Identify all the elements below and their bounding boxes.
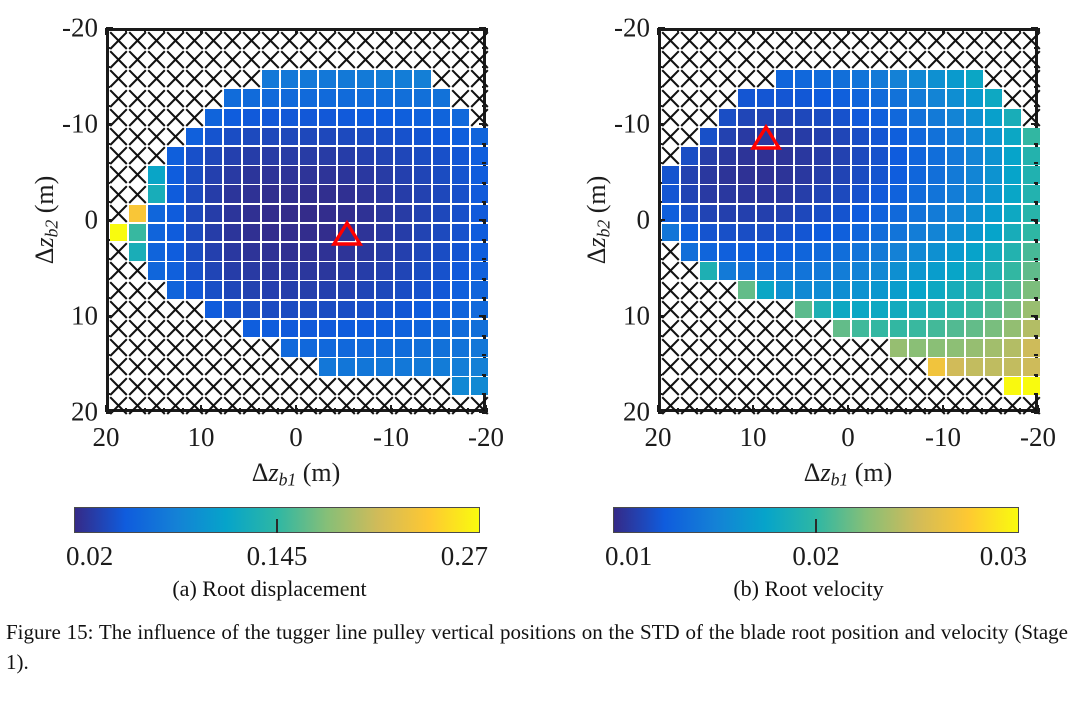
heatmap-cell xyxy=(205,243,223,261)
infeasible-marker xyxy=(946,50,965,69)
infeasible-marker xyxy=(661,319,680,338)
heatmap-cell xyxy=(966,89,984,107)
colorbar-tick xyxy=(815,519,817,533)
heatmap-cell xyxy=(262,243,280,261)
heatmap-cell xyxy=(433,128,451,146)
infeasible-marker xyxy=(109,261,128,280)
infeasible-marker xyxy=(109,69,128,88)
infeasible-marker xyxy=(413,396,432,415)
heatmap-cell xyxy=(414,281,432,299)
heatmap-cell xyxy=(1004,262,1022,280)
heatmap-cell xyxy=(1004,185,1022,203)
heatmap-cell xyxy=(947,320,965,338)
heatmap-cell xyxy=(852,224,870,242)
x-minor-tick xyxy=(372,28,374,32)
heatmap-cell xyxy=(947,224,965,242)
heatmap-cell xyxy=(338,224,356,242)
heatmap-cell xyxy=(224,109,242,127)
heatmap-cell xyxy=(281,185,299,203)
heatmap-cell xyxy=(719,224,737,242)
y-minor-tick xyxy=(1034,278,1038,280)
x-minor-tick xyxy=(734,28,736,32)
heatmap-cell xyxy=(205,185,223,203)
heatmap-cell xyxy=(167,166,185,184)
heatmap-cell xyxy=(281,70,299,88)
x-tick xyxy=(752,405,754,412)
y-minor-tick xyxy=(482,335,486,337)
infeasible-marker xyxy=(109,146,128,165)
colorbar-mid-label: 0.145 xyxy=(247,543,308,570)
y-tick xyxy=(1031,411,1038,413)
heatmap-cell xyxy=(110,224,128,242)
heatmap-cell xyxy=(966,166,984,184)
infeasible-marker xyxy=(147,50,166,69)
heatmap-cell xyxy=(357,109,375,127)
infeasible-marker xyxy=(242,396,261,415)
heatmap-cell xyxy=(281,109,299,127)
heatmap-cell xyxy=(947,205,965,223)
infeasible-marker xyxy=(680,396,699,415)
infeasible-marker xyxy=(965,31,984,50)
x-minor-tick xyxy=(429,408,431,412)
y-minor-tick xyxy=(106,182,110,184)
subcaption-b: (b) Root velocity xyxy=(539,578,1078,600)
infeasible-marker xyxy=(851,357,870,376)
heatmap-cell xyxy=(776,205,794,223)
x-minor-tick xyxy=(886,408,888,412)
infeasible-marker xyxy=(185,338,204,357)
infeasible-marker xyxy=(204,50,223,69)
y-tick xyxy=(106,219,113,221)
heatmap-cell xyxy=(433,147,451,165)
y-tick-label: 10 xyxy=(600,303,650,330)
heatmap-cell xyxy=(795,109,813,127)
heatmap-cell xyxy=(300,128,318,146)
heatmap-cell xyxy=(1004,147,1022,165)
heatmap-cell xyxy=(814,224,832,242)
y-minor-tick xyxy=(482,354,486,356)
infeasible-marker xyxy=(128,185,147,204)
infeasible-marker xyxy=(756,69,775,88)
x-minor-tick xyxy=(867,28,869,32)
heatmap-grid-b xyxy=(661,31,1035,409)
infeasible-marker xyxy=(737,69,756,88)
heatmap-cell xyxy=(243,243,261,261)
x-tick xyxy=(942,28,944,35)
heatmap-cell xyxy=(395,205,413,223)
heatmap-cell xyxy=(262,89,280,107)
heatmap-cell xyxy=(966,301,984,319)
x-tick-label: -20 xyxy=(1020,424,1056,451)
heatmap-cell xyxy=(224,89,242,107)
y-tick xyxy=(479,219,486,221)
heatmap-cell xyxy=(414,205,432,223)
heatmap-cell xyxy=(1004,166,1022,184)
infeasible-marker xyxy=(299,31,318,50)
heatmap-cell xyxy=(243,89,261,107)
infeasible-marker xyxy=(756,396,775,415)
heatmap-cell xyxy=(719,205,737,223)
infeasible-marker xyxy=(927,377,946,396)
heatmap-cell xyxy=(890,166,908,184)
infeasible-marker xyxy=(680,300,699,319)
heatmap-cell xyxy=(966,147,984,165)
infeasible-marker xyxy=(299,50,318,69)
infeasible-marker xyxy=(1022,89,1041,108)
infeasible-marker xyxy=(680,127,699,146)
x-minor-tick xyxy=(353,28,355,32)
heatmap-cell xyxy=(376,320,394,338)
heatmap-cell xyxy=(357,339,375,357)
x-tick xyxy=(295,405,297,412)
infeasible-marker xyxy=(984,31,1003,50)
heatmap-cell xyxy=(357,358,375,376)
heatmap-cell xyxy=(376,243,394,261)
heatmap-cell xyxy=(148,205,166,223)
infeasible-marker xyxy=(242,357,261,376)
heatmap-cell xyxy=(319,185,337,203)
heatmap-cell xyxy=(757,147,775,165)
y-minor-tick xyxy=(1034,393,1038,395)
infeasible-marker xyxy=(718,338,737,357)
infeasible-marker xyxy=(166,89,185,108)
infeasible-marker xyxy=(737,319,756,338)
infeasible-marker xyxy=(946,377,965,396)
heatmap-cell xyxy=(243,109,261,127)
x-axis-title: Δzb1 (m) xyxy=(252,460,341,489)
infeasible-marker xyxy=(794,31,813,50)
subcaption-a: (a) Root displacement xyxy=(0,578,539,600)
infeasible-marker xyxy=(718,69,737,88)
infeasible-marker xyxy=(147,396,166,415)
x-tick-label: 10 xyxy=(188,424,215,451)
infeasible-marker xyxy=(984,50,1003,69)
infeasible-marker xyxy=(813,31,832,50)
y-minor-tick xyxy=(1034,239,1038,241)
y-tick xyxy=(1031,123,1038,125)
y-minor-tick xyxy=(482,239,486,241)
infeasible-marker xyxy=(432,50,451,69)
x-minor-tick xyxy=(810,28,812,32)
x-tick xyxy=(485,28,487,35)
heatmap-cell xyxy=(928,224,946,242)
infeasible-marker xyxy=(394,377,413,396)
x-minor-tick xyxy=(715,28,717,32)
heatmap-cell xyxy=(395,281,413,299)
heatmap-cell xyxy=(395,301,413,319)
infeasible-marker xyxy=(1003,396,1022,415)
x-minor-tick xyxy=(182,408,184,412)
x-minor-tick xyxy=(448,408,450,412)
infeasible-marker xyxy=(927,50,946,69)
heatmap-cell xyxy=(852,243,870,261)
x-minor-tick xyxy=(791,28,793,32)
y-minor-tick xyxy=(482,393,486,395)
heatmap-cell xyxy=(243,147,261,165)
infeasible-marker xyxy=(166,108,185,127)
infeasible-marker xyxy=(699,50,718,69)
heatmap-cell xyxy=(719,185,737,203)
heatmap-cell xyxy=(357,147,375,165)
infeasible-marker xyxy=(775,319,794,338)
heatmap-cell xyxy=(319,320,337,338)
heatmap-cell xyxy=(719,243,737,261)
heatmap-cell xyxy=(205,301,223,319)
infeasible-marker xyxy=(756,31,775,50)
infeasible-marker xyxy=(375,50,394,69)
infeasible-marker xyxy=(166,319,185,338)
y-tick-label: 10 xyxy=(48,303,98,330)
x-minor-tick xyxy=(163,408,165,412)
infeasible-marker xyxy=(432,396,451,415)
heatmap-cell xyxy=(814,205,832,223)
infeasible-marker xyxy=(870,377,889,396)
y-minor-tick xyxy=(106,374,110,376)
x-tick-label: 20 xyxy=(93,424,120,451)
y-minor-tick xyxy=(1034,86,1038,88)
heatmap-cell xyxy=(738,262,756,280)
heatmap-cell xyxy=(452,281,470,299)
heatmap-cell xyxy=(376,70,394,88)
heatmap-cell xyxy=(452,301,470,319)
heatmap-cell xyxy=(319,358,337,376)
heatmap-cell xyxy=(452,358,470,376)
heatmap-cell xyxy=(795,224,813,242)
infeasible-marker xyxy=(128,396,147,415)
heatmap-cell xyxy=(966,262,984,280)
infeasible-marker xyxy=(680,281,699,300)
infeasible-marker xyxy=(470,89,489,108)
heatmap-cell xyxy=(928,109,946,127)
colorbar-b xyxy=(613,507,1019,533)
heatmap-cell xyxy=(852,147,870,165)
x-minor-tick xyxy=(905,408,907,412)
infeasible-marker xyxy=(109,319,128,338)
heatmap-cell xyxy=(947,89,965,107)
heatmap-cell xyxy=(947,166,965,184)
heatmap-cell xyxy=(319,224,337,242)
infeasible-marker xyxy=(261,50,280,69)
heatmap-cell xyxy=(243,166,261,184)
infeasible-marker xyxy=(242,338,261,357)
heatmap-cell xyxy=(300,281,318,299)
heatmap-cell xyxy=(395,262,413,280)
heatmap-cell xyxy=(243,262,261,280)
infeasible-marker xyxy=(813,338,832,357)
infeasible-marker xyxy=(280,50,299,69)
heatmap-cell xyxy=(319,301,337,319)
heatmap-cell xyxy=(281,89,299,107)
infeasible-marker xyxy=(109,50,128,69)
infeasible-marker xyxy=(337,396,356,415)
x-tick-label: -10 xyxy=(925,424,961,451)
heatmap-cell xyxy=(776,147,794,165)
infeasible-marker xyxy=(432,31,451,50)
heatmap-cell xyxy=(985,301,1003,319)
heatmap-cell xyxy=(433,224,451,242)
x-minor-tick xyxy=(125,408,127,412)
infeasible-marker xyxy=(223,69,242,88)
heatmap-cell xyxy=(224,301,242,319)
infeasible-marker xyxy=(984,377,1003,396)
infeasible-marker xyxy=(185,377,204,396)
infeasible-marker xyxy=(775,338,794,357)
y-minor-tick xyxy=(106,47,110,49)
infeasible-marker xyxy=(965,377,984,396)
heatmap-cell xyxy=(1004,339,1022,357)
y-tick-label: -10 xyxy=(600,111,650,138)
heatmap-cell xyxy=(833,224,851,242)
heatmap-cell xyxy=(909,70,927,88)
heatmap-cell xyxy=(300,147,318,165)
infeasible-marker xyxy=(1003,50,1022,69)
infeasible-marker xyxy=(680,69,699,88)
heatmap-cell xyxy=(871,89,889,107)
infeasible-marker xyxy=(965,50,984,69)
heatmap-cell xyxy=(776,89,794,107)
heatmap-cell xyxy=(338,128,356,146)
y-minor-tick xyxy=(658,278,662,280)
infeasible-marker xyxy=(908,50,927,69)
y-minor-tick xyxy=(482,278,486,280)
heatmap-cell xyxy=(947,301,965,319)
y-minor-tick xyxy=(482,143,486,145)
infeasible-marker xyxy=(661,69,680,88)
infeasible-marker xyxy=(718,396,737,415)
heatmap-cell xyxy=(909,185,927,203)
x-minor-tick xyxy=(734,408,736,412)
heatmap-cell xyxy=(795,301,813,319)
heatmap-cell xyxy=(852,109,870,127)
x-minor-tick xyxy=(962,28,964,32)
infeasible-marker xyxy=(413,31,432,50)
heatmap-cell xyxy=(795,89,813,107)
heatmap-cell xyxy=(795,205,813,223)
infeasible-marker xyxy=(147,31,166,50)
y-tick xyxy=(479,315,486,317)
y-minor-tick xyxy=(658,335,662,337)
infeasible-marker xyxy=(280,377,299,396)
x-minor-tick xyxy=(334,408,336,412)
y-minor-tick xyxy=(482,66,486,68)
colorbar-a xyxy=(74,507,480,533)
heatmap-cell xyxy=(776,281,794,299)
heatmap-cell xyxy=(357,128,375,146)
infeasible-marker xyxy=(699,281,718,300)
heatmap-cell xyxy=(224,205,242,223)
infeasible-marker xyxy=(109,31,128,50)
infeasible-marker xyxy=(680,261,699,280)
heatmap-cell xyxy=(890,243,908,261)
infeasible-marker xyxy=(756,319,775,338)
infeasible-marker xyxy=(699,377,718,396)
infeasible-marker xyxy=(699,396,718,415)
infeasible-marker xyxy=(109,281,128,300)
heatmap-cell xyxy=(433,89,451,107)
panel-root-velocity: 20100-10-20-20-1001020Δzb1 (m)Δzb2 (m)0.… xyxy=(539,0,1078,580)
infeasible-marker xyxy=(470,69,489,88)
heatmap-cell xyxy=(338,205,356,223)
heatmap-cell xyxy=(357,262,375,280)
heatmap-cell xyxy=(281,320,299,338)
y-tick-label: -20 xyxy=(600,15,650,42)
infeasible-marker xyxy=(851,377,870,396)
infeasible-marker xyxy=(223,50,242,69)
heatmap-cell xyxy=(871,243,889,261)
heatmap-cell xyxy=(357,281,375,299)
infeasible-marker xyxy=(661,146,680,165)
heatmap-cell xyxy=(947,109,965,127)
colorbar-max-label: 0.27 xyxy=(441,543,488,570)
x-minor-tick xyxy=(981,28,983,32)
infeasible-marker xyxy=(680,319,699,338)
x-minor-tick xyxy=(772,28,774,32)
infeasible-marker xyxy=(718,31,737,50)
y-tick xyxy=(479,27,486,29)
heatmap-cell xyxy=(376,128,394,146)
x-minor-tick xyxy=(315,408,317,412)
infeasible-marker xyxy=(109,357,128,376)
y-tick xyxy=(106,27,113,29)
y-minor-tick xyxy=(658,354,662,356)
heatmap-cell xyxy=(338,358,356,376)
heatmap-cell xyxy=(757,224,775,242)
heatmap-cell xyxy=(281,339,299,357)
x-minor-tick xyxy=(981,408,983,412)
heatmap-cell xyxy=(890,320,908,338)
infeasible-marker xyxy=(223,357,242,376)
infeasible-marker xyxy=(242,31,261,50)
x-minor-tick xyxy=(429,28,431,32)
heatmap-cell xyxy=(909,89,927,107)
infeasible-marker xyxy=(813,357,832,376)
x-minor-tick xyxy=(829,28,831,32)
heatmap-cell xyxy=(928,128,946,146)
infeasible-marker xyxy=(756,50,775,69)
infeasible-marker xyxy=(718,377,737,396)
infeasible-marker xyxy=(147,338,166,357)
heatmap-cell xyxy=(376,301,394,319)
heatmap-cell xyxy=(852,301,870,319)
heatmap-cell xyxy=(452,147,470,165)
heatmap-cell xyxy=(947,147,965,165)
y-minor-tick xyxy=(106,143,110,145)
heatmap-cell xyxy=(852,166,870,184)
infeasible-marker xyxy=(756,338,775,357)
y-tick xyxy=(479,411,486,413)
infeasible-marker xyxy=(356,50,375,69)
infeasible-marker xyxy=(699,357,718,376)
y-tick xyxy=(1031,315,1038,317)
heatmap-cell xyxy=(319,262,337,280)
infeasible-marker xyxy=(1022,69,1041,88)
infeasible-marker xyxy=(889,50,908,69)
heatmap-cell xyxy=(833,109,851,127)
x-minor-tick xyxy=(220,28,222,32)
heatmap-cell xyxy=(338,89,356,107)
heatmap-cell xyxy=(890,262,908,280)
infeasible-marker xyxy=(109,127,128,146)
colorbar-mid-label: 0.02 xyxy=(792,543,839,570)
heatmap-cell xyxy=(395,224,413,242)
heatmap-cell xyxy=(909,224,927,242)
infeasible-marker xyxy=(718,319,737,338)
heatmap-cell xyxy=(376,89,394,107)
heatmap-cell xyxy=(909,320,927,338)
x-minor-tick xyxy=(696,408,698,412)
heatmap-cell xyxy=(928,320,946,338)
heatmap-cell xyxy=(262,262,280,280)
